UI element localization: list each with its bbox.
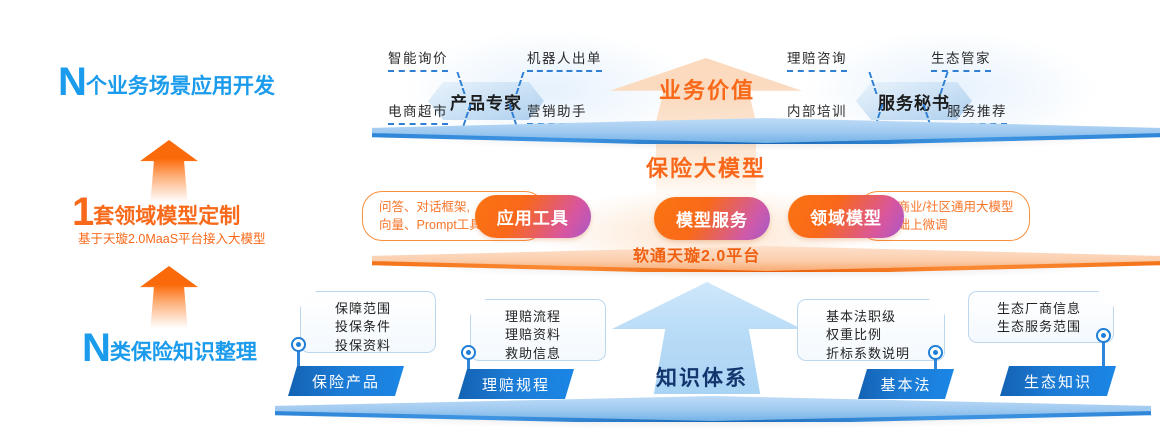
scenario-claim-consult-text: 理赔咨询 xyxy=(787,47,847,67)
tag-basic-law[interactable]: 基本法 xyxy=(858,369,954,399)
dashed-rule xyxy=(787,70,847,72)
scenario-eco-steward: 生态管家 xyxy=(931,47,991,72)
tag-insurance-product[interactable]: 保险产品 xyxy=(288,366,404,396)
pill-model-service[interactable]: 模型服务 xyxy=(654,197,770,240)
callout-claim-procedure: 理赔流程 理赔资料 救助信息 xyxy=(470,299,606,361)
dashed-rule xyxy=(931,70,991,72)
rail-text-domain-model: 套领域模型定制 xyxy=(93,205,240,228)
scenario-robot-policy: 机器人出单 xyxy=(527,47,602,72)
callout-line: 生态厂商信息 xyxy=(997,300,1079,318)
plate-knowledge-base xyxy=(275,396,1151,422)
callout-line: 基本法职级 xyxy=(826,308,910,326)
rail-text-scenarios: 个业务场景应用开发 xyxy=(86,75,275,98)
callout-line: 生态服务范围 xyxy=(997,318,1079,336)
callout-line: 救助信息 xyxy=(505,345,595,363)
label-insurance-large-model: 保险大模型 xyxy=(646,158,766,180)
callout-line: 保障范围 xyxy=(335,300,425,318)
capability-domain-model: 领域模型 在商业/社区通用大模型 基础上微调 xyxy=(788,191,1030,241)
dashed-rule xyxy=(527,70,602,72)
callout-line: 投保资料 xyxy=(335,337,425,355)
scenario-ecommerce-mall-text: 电商超市 xyxy=(388,100,448,120)
scenario-smart-quote: 智能询价 xyxy=(388,47,448,72)
plate-application-layer xyxy=(372,118,1160,144)
scenario-marketing-assistant-text: 营销助手 xyxy=(527,100,587,120)
marker-basic-law xyxy=(928,345,943,360)
pill-application-tools[interactable]: 应用工具 xyxy=(475,195,591,238)
marker-ecosystem xyxy=(1096,328,1111,343)
rail-big-n-bottom: N xyxy=(82,326,110,370)
scenario-eco-steward-text: 生态管家 xyxy=(931,47,991,67)
rail-label-scenarios: N个业务场景应用开发 xyxy=(58,62,275,102)
callout-line: 权重比例 xyxy=(826,326,910,344)
rail-text-knowledge: 类保险知识整理 xyxy=(110,341,257,364)
plate-tianxuan-platform xyxy=(372,246,1160,272)
dashed-rule xyxy=(388,70,448,72)
scenario-smart-quote-text: 智能询价 xyxy=(388,47,448,67)
callout-insurance-product: 保障范围 投保条件 投保资料 xyxy=(300,291,436,353)
note-application-tools-l1: 问答、对话框架, 向量、Prompt工具 xyxy=(379,198,482,234)
rail-label-knowledge: N类保险知识整理 xyxy=(82,328,257,368)
marker-claim-procedure xyxy=(461,345,476,360)
scenario-service-recommend-text: 服务推荐 xyxy=(947,100,1007,120)
callout-line: 投保条件 xyxy=(335,318,425,336)
capability-application-tools: 问答、对话框架, 向量、Prompt工具 应用工具 xyxy=(362,191,591,241)
label-business-value: 业务价值 xyxy=(659,80,755,102)
callout-basic-law: 基本法职级 权重比例 折标系数说明 xyxy=(797,299,945,361)
rail-label-domain-model: 1套领域模型定制 xyxy=(72,192,240,232)
callout-line: 折标系数说明 xyxy=(826,345,910,363)
label-tianxuan-platform: 软通天璇2.0平台 xyxy=(633,249,760,265)
tag-ecosystem[interactable]: 生态知识 xyxy=(1000,366,1116,396)
scenario-claim-consult: 理赔咨询 xyxy=(787,47,847,72)
callout-line: 理赔资料 xyxy=(505,326,595,344)
arrow-up-domain-model xyxy=(140,266,198,328)
callout-ecosystem: 生态厂商信息 生态服务范围 xyxy=(968,291,1114,343)
scenario-robot-policy-text: 机器人出单 xyxy=(527,47,602,67)
pill-domain-model[interactable]: 领域模型 xyxy=(788,195,904,238)
note-domain-model-l1: 在商业/社区通用大模型 基础上微调 xyxy=(885,198,1013,234)
callout-line: 理赔流程 xyxy=(505,308,595,326)
diagram-canvas: N个业务场景应用开发 1套领域模型定制 基于天璇2.0MaaS平台接入大模型 N… xyxy=(0,0,1165,432)
marker-insurance-product xyxy=(291,337,306,352)
rail-big-n-top: N xyxy=(58,60,86,104)
label-knowledge-system: 知识体系 xyxy=(656,368,748,389)
scenario-internal-training-text: 内部培训 xyxy=(787,100,847,120)
rail-sub-domain-model: 基于天璇2.0MaaS平台接入大模型 xyxy=(78,228,266,247)
tag-claim-procedure[interactable]: 理赔规程 xyxy=(458,369,574,399)
